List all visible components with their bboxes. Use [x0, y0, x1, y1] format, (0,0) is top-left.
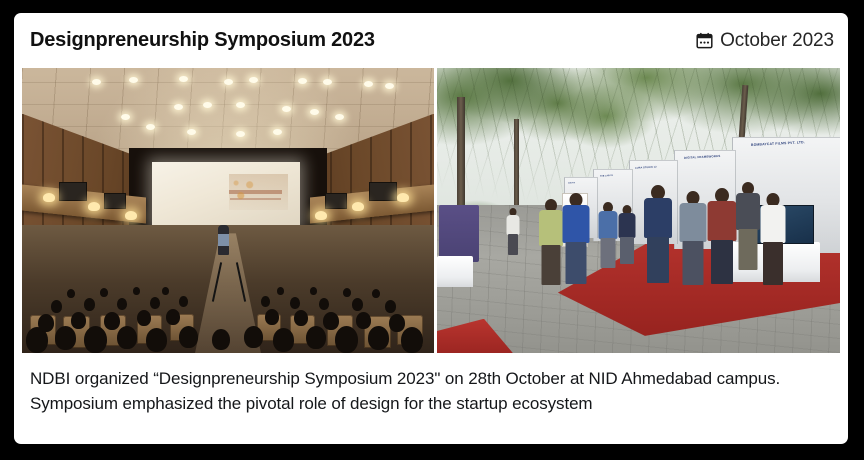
visitor: [618, 205, 636, 299]
visitor: [643, 185, 673, 333]
standee-banner: [439, 205, 479, 262]
speaker-box: [369, 182, 397, 201]
exhibition-photo: BOMBAYCAT FILMS PVT. LTD. DIGITAL FRAMEW…: [437, 68, 840, 353]
auditorium-photo: [22, 68, 434, 353]
event-card: Designpreneurship Symposium 2023 October…: [14, 13, 848, 444]
visitor: [759, 193, 786, 336]
photo-strip: BOMBAYCAT FILMS PVT. LTD. DIGITAL FRAMEW…: [22, 68, 840, 353]
page-title: Designpreneurship Symposium 2023: [30, 29, 375, 52]
calendar-icon: [696, 32, 713, 49]
speaker-box: [59, 182, 87, 201]
display-plinth: [437, 256, 473, 287]
card-header: Designpreneurship Symposium 2023 October…: [14, 13, 848, 68]
stall-sign: INNOV8: [568, 182, 575, 184]
visitor: [598, 202, 618, 305]
visitor: [679, 191, 707, 334]
stall-sign: FAB LAB 03: [600, 174, 613, 177]
speaker-box: [325, 193, 347, 209]
wall-lamp: [88, 202, 100, 211]
visitor: [562, 193, 590, 330]
screen-slide-text: [229, 190, 282, 194]
visitor: [538, 199, 564, 330]
date-group: October 2023: [696, 30, 834, 52]
event-date-label: October 2023: [720, 30, 834, 52]
speaker-box: [104, 193, 126, 209]
visitor: [735, 182, 761, 319]
page-root: Designpreneurship Symposium 2023 October…: [0, 0, 864, 460]
visitor: [707, 188, 737, 333]
wall-lamp: [352, 202, 364, 211]
wall-lamp: [43, 193, 55, 202]
event-caption: NDBI organized “Designpreneurship Sympos…: [14, 358, 848, 416]
visitor: [506, 208, 520, 282]
projection-screen: [152, 162, 300, 228]
audience: [22, 219, 434, 353]
wall-lamp: [397, 193, 409, 202]
